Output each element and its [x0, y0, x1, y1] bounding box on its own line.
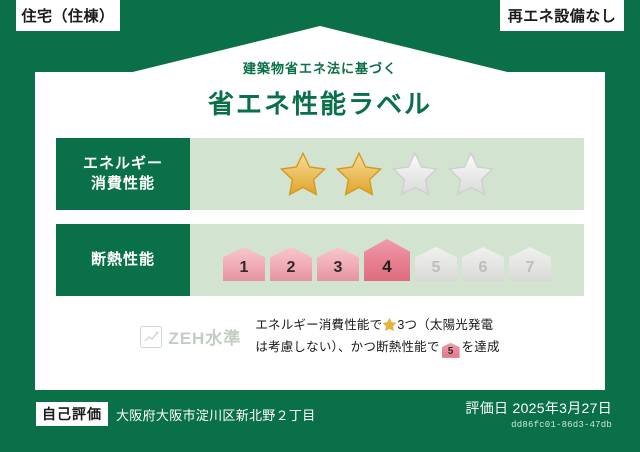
star-filled-icon [279, 150, 327, 198]
insulation-grade-badge-3: 3 [317, 247, 359, 281]
zeh-desc-line2-b: を達成 [462, 340, 500, 354]
insulation-grade-badge-2: 2 [270, 247, 312, 281]
star-filled-icon [335, 150, 383, 198]
zeh-note: ZEH水準 エネルギー消費性能で3つ（太陽光発電 は考慮しない）、かつ断熱性能で… [56, 315, 584, 359]
zeh-mark: ZEH水準 [140, 324, 241, 349]
performance-rows: エネルギー 消費性能 断熱性能 1234567 [56, 138, 584, 310]
star-empty-icon [447, 150, 495, 198]
building-type-tag: 住宅（住棟） [16, 0, 120, 31]
insulation-performance-label-cell: 断熱性能 [56, 224, 190, 296]
renewable-energy-tag-label: 再エネ設備なし [508, 5, 617, 26]
star-empty-icon [391, 150, 439, 198]
insulation-grade-badge-6: 6 [462, 247, 504, 281]
zeh-desc-line1-a: エネルギー消費性能で [255, 318, 382, 332]
insulation-grade-badge-7: 7 [509, 247, 551, 281]
insulation-performance-label: 断熱性能 [91, 250, 155, 270]
inline-grade-chip: 5 [442, 343, 460, 358]
page-title-main: 省エネ性能ラベル [35, 84, 605, 121]
energy-performance-row: エネルギー 消費性能 [56, 138, 584, 210]
insulation-performance-value-cell: 1234567 [190, 224, 584, 296]
property-address: 大阪府大阪市淀川区新北野２丁目 [116, 405, 316, 424]
footer-left-group: 自己評価 大阪府大阪市淀川区新北野２丁目 [36, 402, 316, 426]
zeh-description: エネルギー消費性能で3つ（太陽光発電 は考慮しない）、かつ断熱性能で5を達成 [255, 315, 499, 359]
insulation-grade-badge-1: 1 [223, 247, 265, 281]
insulation-grade-badge-5: 5 [415, 247, 457, 281]
renewable-energy-tag: 再エネ設備なし [500, 0, 624, 31]
energy-performance-label-line1: エネルギー [83, 154, 163, 174]
insulation-performance-row: 断熱性能 1234567 [56, 224, 584, 296]
inline-star-icon [382, 317, 397, 332]
energy-performance-label-line2: 消費性能 [91, 174, 155, 194]
building-type-tag-label: 住宅（住棟） [21, 5, 114, 26]
label-card: 建築物省エネ法に基づく 省エネ性能ラベル エネルギー 消費性能 断熱性能 [35, 72, 605, 390]
page-subtitle: 建築物省エネ法に基づく [35, 58, 605, 77]
page-title: 建築物省エネ法に基づく 省エネ性能ラベル [35, 72, 605, 121]
energy-performance-label-cell: エネルギー 消費性能 [56, 138, 190, 210]
self-evaluation-badge: 自己評価 [36, 402, 108, 426]
energy-performance-value-cell [190, 138, 584, 210]
evaluation-id: dd86fc01-86d3-47db [465, 420, 612, 430]
label-footer: 自己評価 大阪府大阪市淀川区新北野２丁目 評価日 2025年3月27日 dd86… [0, 390, 640, 452]
star-rating [279, 150, 495, 198]
zeh-desc-line1-b: 3つ（太陽光発電 [397, 318, 493, 332]
zeh-desc-line2-a: は考慮しない）、かつ断熱性能で [255, 340, 439, 354]
insulation-grade-badge-4: 4 [364, 239, 410, 281]
zeh-chart-icon [140, 326, 162, 348]
insulation-grade-scale: 1234567 [223, 239, 551, 281]
energy-performance-label: 住宅（住棟） 再エネ設備なし 建築物省エネ法に基づく 省エネ性能ラベル エネルギ… [0, 0, 640, 452]
zeh-label: ZEH水準 [168, 324, 241, 349]
evaluation-date: 評価日 2025年3月27日 [465, 398, 612, 418]
footer-right-group: 評価日 2025年3月27日 dd86fc01-86d3-47db [465, 398, 612, 430]
